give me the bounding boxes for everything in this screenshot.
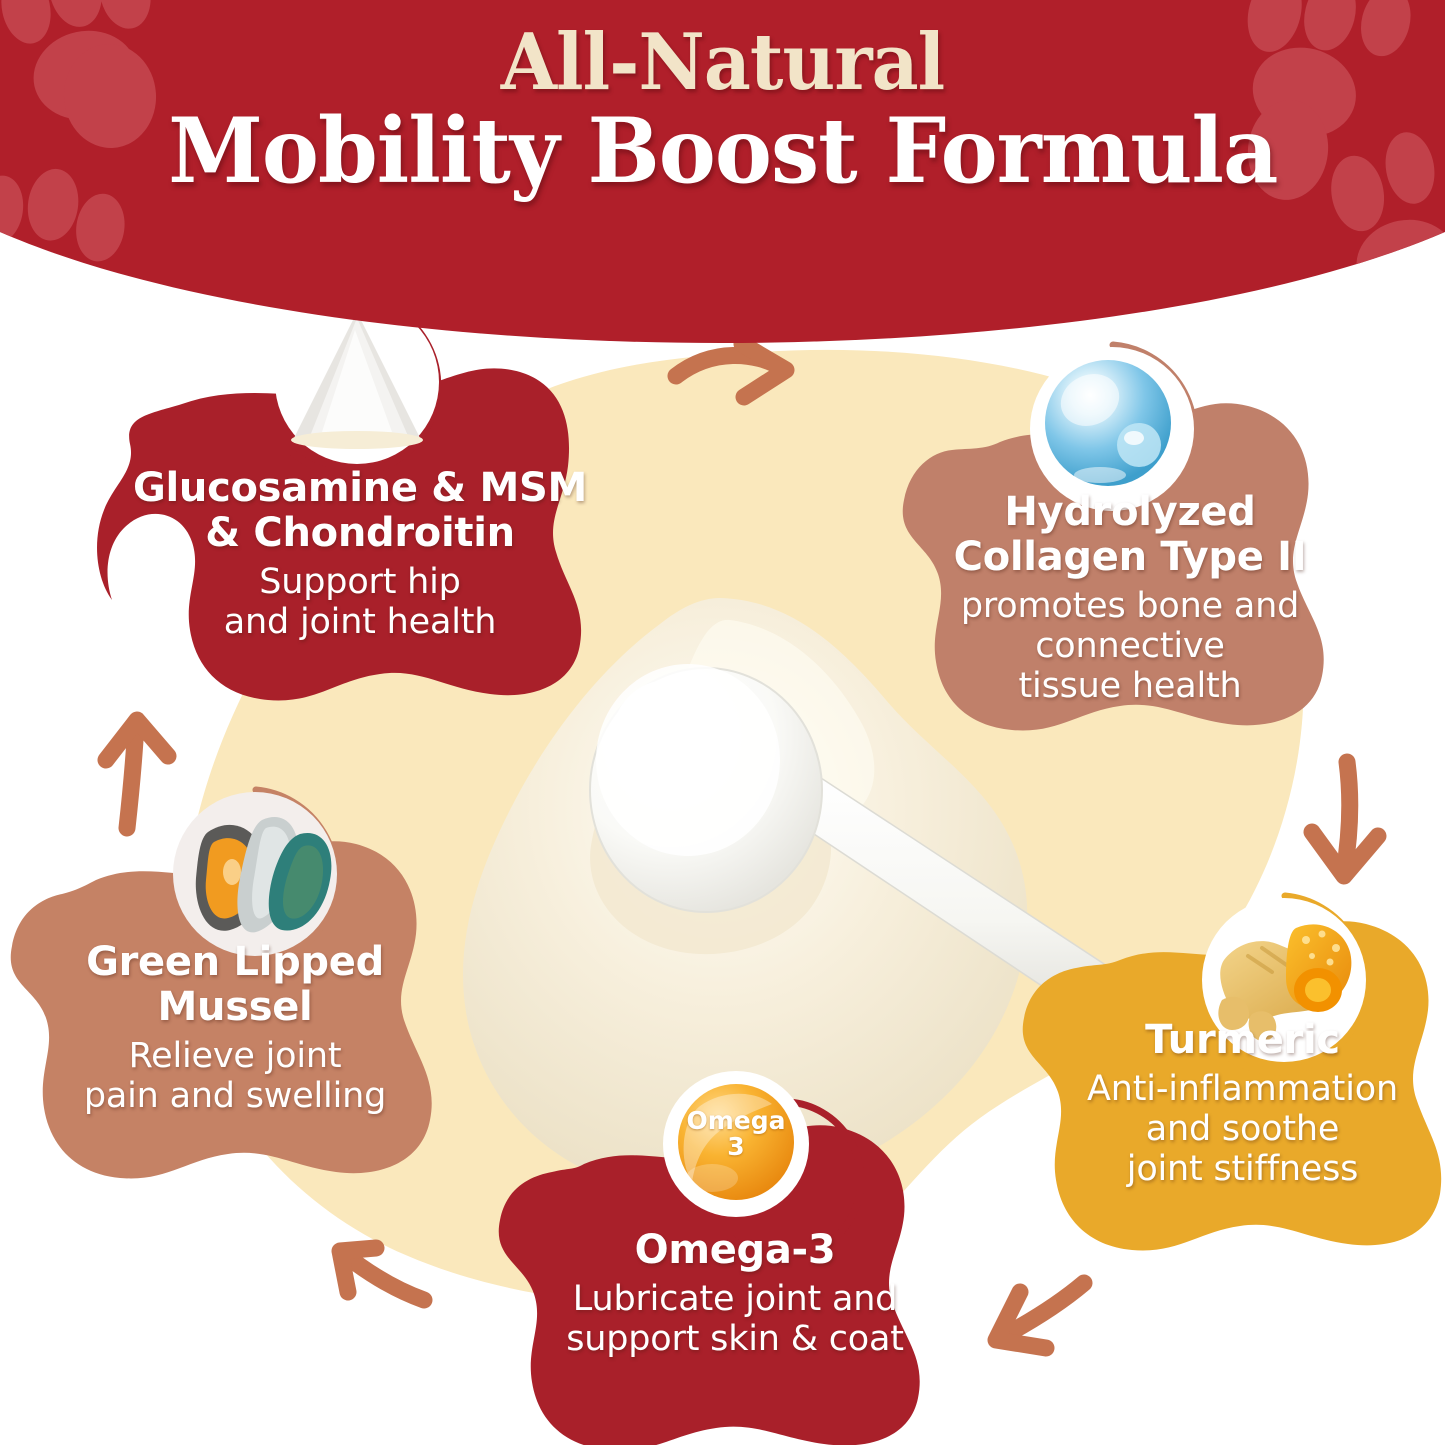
blue-droplet-icon (1030, 347, 1194, 511)
arrow-left-upper (106, 720, 168, 828)
background-layer (0, 0, 1445, 1445)
green-lipped-mussel-icon (173, 792, 337, 956)
header-band (0, 0, 1445, 344)
omega-3-capsule-icon (663, 1071, 809, 1217)
turmeric-root-icon (1202, 898, 1366, 1062)
arrow-bottom-right (996, 1283, 1084, 1348)
infographic-canvas: All-Natural Mobility Boost Formula Gluco… (0, 0, 1445, 1445)
arrow-right-upper (1312, 762, 1378, 876)
